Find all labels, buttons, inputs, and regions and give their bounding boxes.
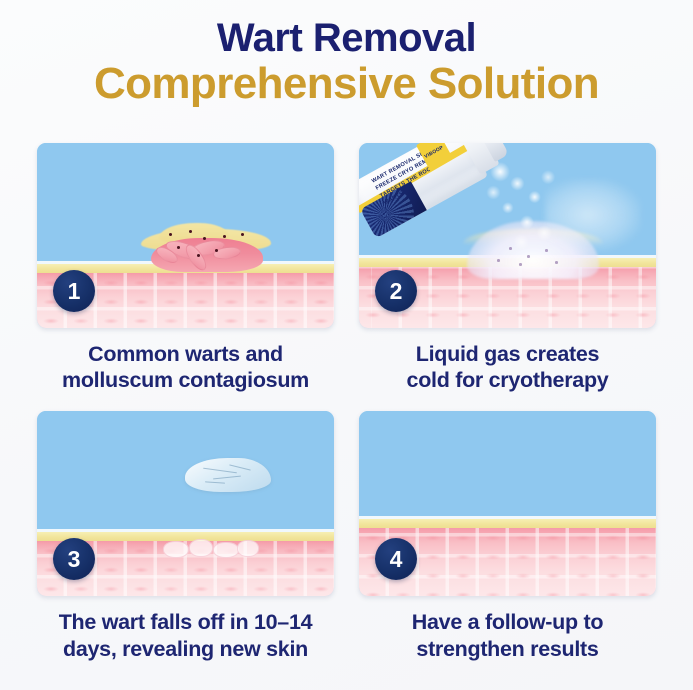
step-card-3: 3 The wart falls off in 10–14 days, reve… xyxy=(37,411,334,661)
step-caption-4: Have a follow-up to strengthen results xyxy=(359,609,656,661)
caption-line: days, revealing new skin xyxy=(41,636,330,662)
wart-lesion xyxy=(141,221,271,281)
epidermis-layer xyxy=(359,519,656,528)
frozen-spot xyxy=(497,259,500,262)
detached-wart-flake xyxy=(185,458,271,492)
wart-capillary-dot xyxy=(189,230,192,233)
step-number-badge: 2 xyxy=(375,270,417,312)
step-illustration-2: WART REMOVAL SPRAY FREEZE CRYO REMOVER T… xyxy=(359,143,656,328)
wart-capillary-dot xyxy=(215,249,218,252)
wart-capillary-dot xyxy=(241,233,244,236)
caption-line: Common warts and xyxy=(41,341,330,367)
title-line-primary: Wart Removal xyxy=(0,16,693,61)
step-card-4: 4 Have a follow-up to strengthen results xyxy=(359,411,656,661)
steps-grid: 1 Common warts and molluscum contagiosum xyxy=(37,143,656,662)
flake-detail xyxy=(203,468,237,474)
step-card-2: WART REMOVAL SPRAY FREEZE CRYO REMOVER T… xyxy=(359,143,656,393)
step-illustration-4: 4 xyxy=(359,411,656,596)
step-caption-3: The wart falls off in 10–14 days, reveal… xyxy=(37,609,334,661)
skin-air-layer xyxy=(359,411,656,516)
frozen-spot xyxy=(519,263,522,266)
flake-detail xyxy=(213,476,241,480)
frozen-spot xyxy=(555,261,558,264)
wart-capillary-dot xyxy=(223,235,226,238)
wart-capillary-dot xyxy=(169,233,172,236)
step-caption-1: Common warts and molluscum contagiosum xyxy=(37,341,334,393)
step-card-1: 1 Common warts and molluscum contagiosum xyxy=(37,143,334,393)
caption-line: molluscum contagiosum xyxy=(41,367,330,393)
bottle-brand-name: VIBOOP xyxy=(424,145,445,160)
infographic-page: Wart Removal Comprehensive Solution xyxy=(0,0,693,690)
caption-line: Have a follow-up to xyxy=(363,609,652,635)
page-title: Wart Removal Comprehensive Solution xyxy=(0,0,693,108)
healing-cell xyxy=(213,542,239,558)
step-number-badge: 1 xyxy=(53,270,95,312)
frozen-spot xyxy=(527,255,530,258)
title-line-secondary: Comprehensive Solution xyxy=(0,59,693,108)
step-illustration-3: 3 xyxy=(37,411,334,596)
caption-line: The wart falls off in 10–14 xyxy=(41,609,330,635)
caption-line: Liquid gas creates xyxy=(363,341,652,367)
step-illustration-1: 1 xyxy=(37,143,334,328)
healing-cell xyxy=(163,541,189,558)
flake-detail xyxy=(205,482,225,484)
flake-detail xyxy=(229,465,251,471)
caption-line: strengthen results xyxy=(363,636,652,662)
wart-capillary-dot xyxy=(203,237,206,240)
step-caption-2: Liquid gas creates cold for cryotherapy xyxy=(359,341,656,393)
wart-capillary-dot xyxy=(177,246,180,249)
caption-line: cold for cryotherapy xyxy=(363,367,652,393)
healing-cell xyxy=(189,539,213,557)
wart-capillary-dot xyxy=(197,254,200,257)
skin-air-layer xyxy=(37,411,334,529)
healing-cell xyxy=(237,540,259,557)
